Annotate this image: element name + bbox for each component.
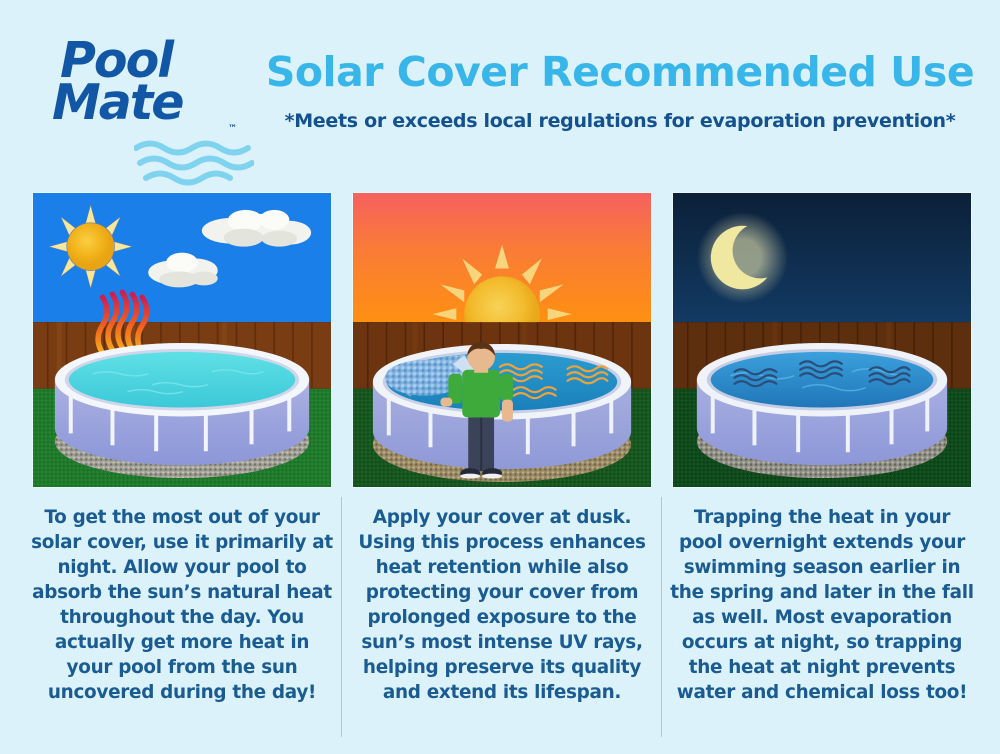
above-ground-pool [697, 343, 947, 478]
panel-caption: To get the most out of your solar cover,… [30, 505, 334, 705]
dusk-scene-svg [353, 193, 651, 487]
person-right-hand [502, 400, 513, 422]
logo-line-mate: Mate [52, 80, 182, 125]
crescent-moon-icon [697, 212, 788, 303]
above-ground-pool [55, 343, 309, 478]
night-scene-svg [673, 193, 971, 487]
header: Pool Mate ™ Solar Cover Recommended Use … [0, 0, 1000, 175]
person-left-hand [440, 398, 452, 407]
illustration-dusk-applying-cover [352, 192, 652, 488]
panel-daytime: To get the most out of your solar cover,… [22, 175, 342, 754]
panel-caption: Apply your cover at dusk. Using this pro… [350, 505, 654, 705]
page-subtitle: *Meets or exceeds local regulations for … [255, 110, 985, 132]
logo-trademark: ™ [228, 124, 237, 134]
panel-grid: To get the most out of your solar cover,… [0, 175, 1000, 754]
infographic-page: Pool Mate ™ Solar Cover Recommended Use … [0, 0, 1000, 754]
illustration-night-covered-pool [672, 192, 972, 488]
illustration-daytime-uncovered-pool [32, 192, 332, 488]
panel-dusk: Apply your cover at dusk. Using this pro… [342, 175, 662, 754]
panel-caption: Trapping the heat in your pool overnight… [670, 505, 974, 705]
panel-night: Trapping the heat in your pool overnight… [662, 175, 982, 754]
day-scene-svg [33, 193, 331, 487]
sun-icon [49, 205, 132, 288]
pool-mate-logo: Pool Mate ™ [52, 38, 252, 168]
person-right-arm [500, 374, 513, 402]
person-torso [462, 370, 500, 418]
pool-water [69, 352, 295, 408]
page-title: Solar Cover Recommended Use [255, 48, 985, 96]
